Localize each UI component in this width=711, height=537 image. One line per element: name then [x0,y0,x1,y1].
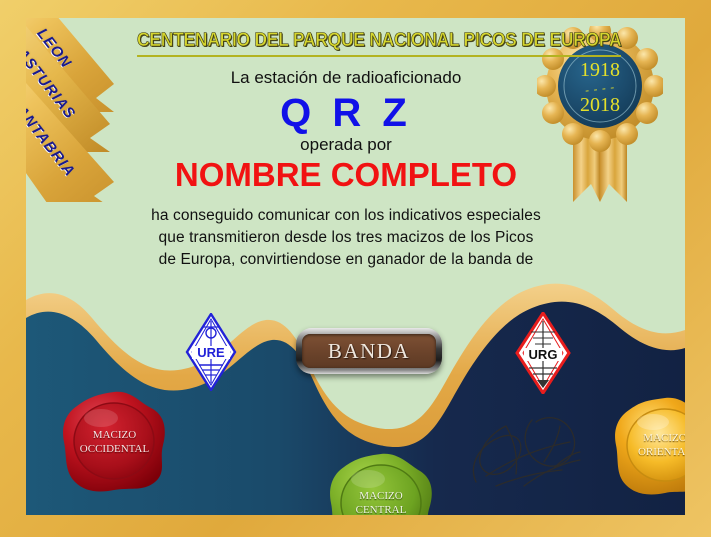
body-line-1: ha conseguido comunicar con los indicati… [116,205,576,227]
certificate-title: CENTENARIO DEL PARQUE NACIONAL PICOS DE … [137,30,621,57]
operator-name-field[interactable]: NOMBRE COMPLETO [116,157,576,193]
certificate-body: ha conseguido comunicar con los indicati… [116,205,576,271]
wax-seal-occidental: MACIZO OCCIDENTAL [61,390,168,495]
signature-icon [466,390,616,498]
ure-label: URE [197,345,225,360]
wax-seal-red-icon [61,390,168,495]
rosette-year-to: 2018 [580,94,620,116]
ure-emblem: URE [185,313,237,391]
wax-seal-central: MACIZO CENTRAL [326,452,436,515]
signature-mark [466,390,616,498]
urg-label: URG [529,347,558,362]
wax-seal-gold-icon [612,396,685,496]
wax-seal-oriental: MACIZO ORIENTAL [612,396,685,496]
operated-by-line: operada por [116,135,576,155]
station-line: La estación de radioaficionado [116,68,576,88]
band-label: BANDA [328,339,410,364]
callsign-field[interactable]: Q R Z [116,92,576,134]
urg-emblem: URG [515,312,571,394]
band-plaque[interactable]: BANDA [296,328,442,374]
band-plaque-face: BANDA [302,334,436,368]
rosette-year-from: 1918 [580,59,620,81]
certificate-canvas: LEON ASTURIAS CANTABRIA [0,0,711,537]
urg-diamond-icon: URG [515,312,571,394]
body-line-2: que transmitieron desde los tres macizos… [116,227,576,249]
ure-diamond-icon: URE [185,313,237,391]
body-line-3: de Europa, convirtiendose en ganador de … [116,249,576,271]
wax-seal-green-icon [326,452,436,515]
certificate-inner: LEON ASTURIAS CANTABRIA [26,18,685,515]
certificate-text-block: CENTENARIO DEL PARQUE NACIONAL PICOS DE … [116,30,576,271]
